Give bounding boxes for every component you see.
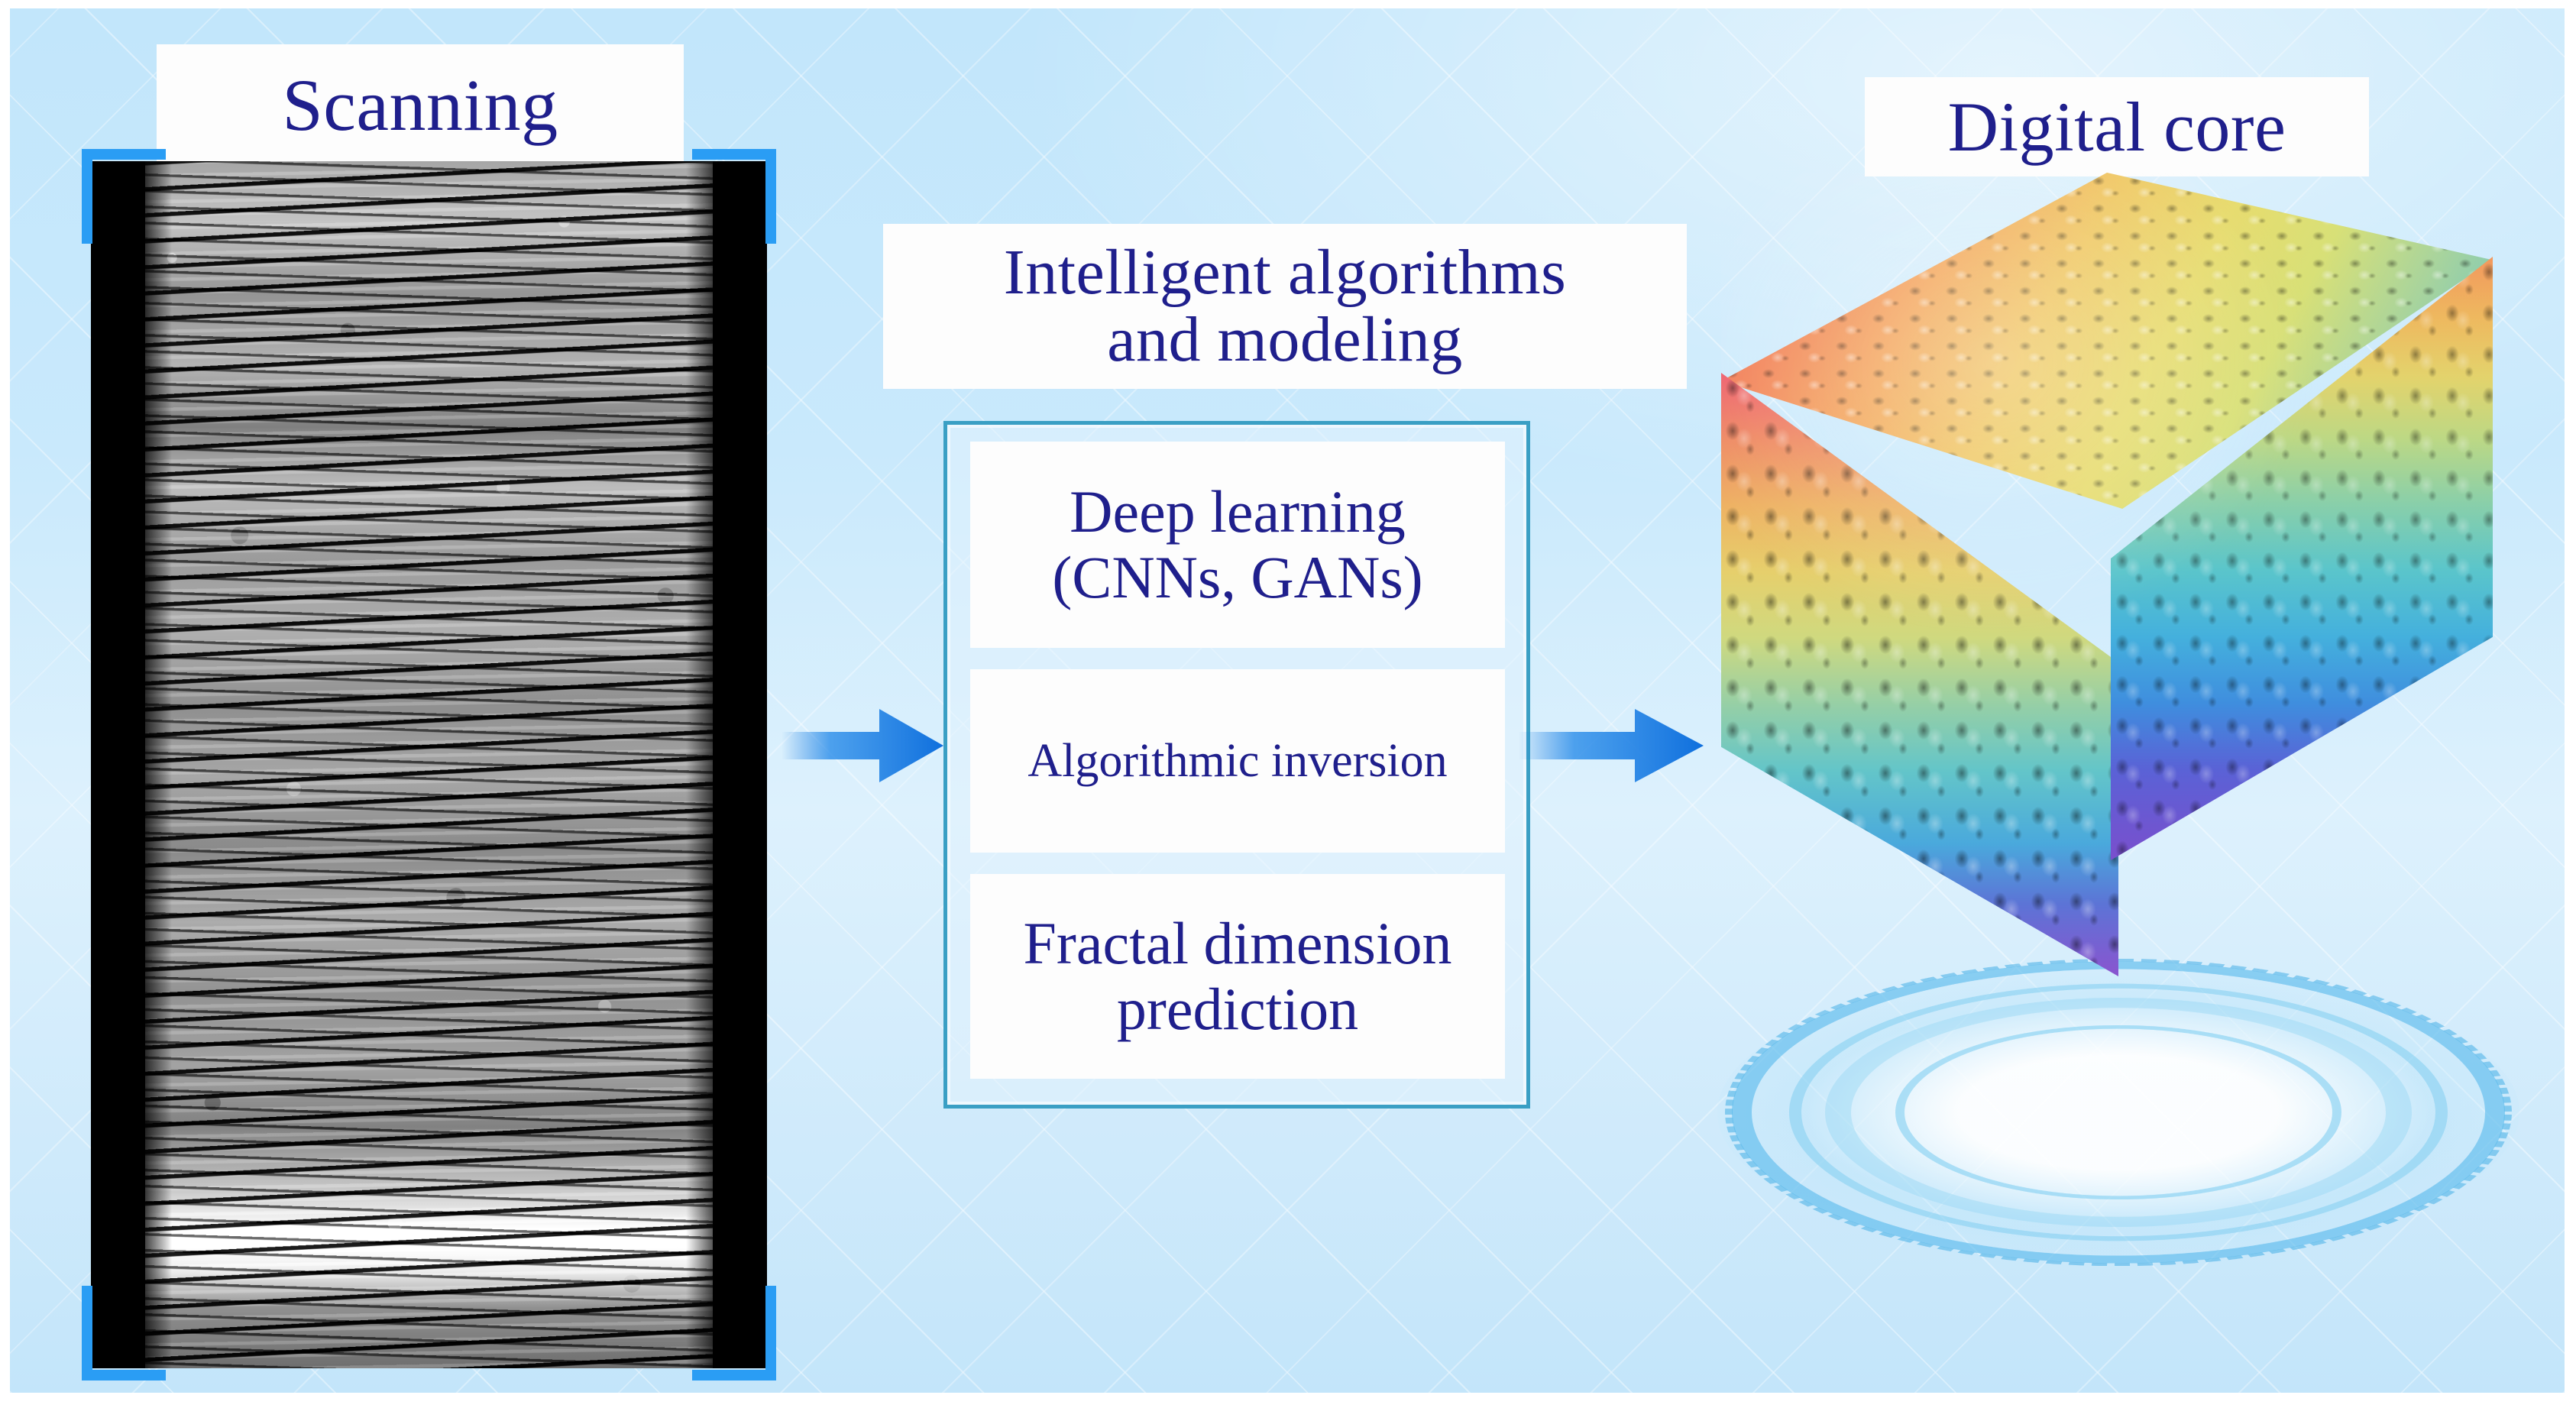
digital-core-label: Digital core	[1865, 77, 2369, 176]
corner-bracket-bottom-right-icon	[692, 1286, 776, 1380]
algorithm-item-fractal-dimension-line1: Fractal dimension	[1023, 911, 1451, 976]
algorithm-item-algorithmic-inversion[interactable]: Algorithmic inversion	[970, 669, 1505, 853]
digital-core-scene	[1675, 173, 2561, 1364]
corner-bracket-top-right-icon	[692, 149, 776, 244]
core-scan-panel	[91, 161, 767, 1368]
core-right-edge	[686, 161, 767, 1368]
algorithms-container: Deep learning (CNNs, GANs) Algorithmic i…	[943, 421, 1530, 1109]
algorithm-item-deep-learning[interactable]: Deep learning (CNNs, GANs)	[970, 442, 1505, 648]
core-left-edge	[91, 161, 172, 1368]
corner-bracket-top-left-icon	[82, 149, 166, 244]
core-texture-noise	[91, 161, 767, 1368]
hud-ring-4	[1895, 1025, 2341, 1199]
scanning-label: Scanning	[157, 44, 684, 167]
core-ct-scan-image	[91, 161, 767, 1368]
algorithm-item-fractal-dimension-line2: prediction	[1117, 976, 1358, 1042]
intelligent-algorithms-title: Intelligent algorithms and modeling	[883, 224, 1687, 389]
figure-stage: Scanning	[0, 0, 2576, 1408]
arrow-scan-to-algorithms-icon	[782, 700, 946, 791]
digital-core-cube	[1721, 173, 2493, 1036]
algorithm-item-deep-learning-line1: Deep learning	[1070, 479, 1406, 545]
algorithm-item-deep-learning-line2: (CNNs, GANs)	[1052, 545, 1422, 610]
intelligent-algorithms-title-line1: Intelligent algorithms	[1004, 239, 1567, 306]
intelligent-algorithms-title-line2: and modeling	[1107, 306, 1463, 374]
figure-canvas: Scanning	[10, 8, 2565, 1393]
algorithm-item-algorithmic-inversion-line1: Algorithmic inversion	[1027, 735, 1447, 787]
corner-bracket-bottom-left-icon	[82, 1286, 166, 1380]
algorithm-item-fractal-dimension[interactable]: Fractal dimension prediction	[970, 874, 1505, 1079]
